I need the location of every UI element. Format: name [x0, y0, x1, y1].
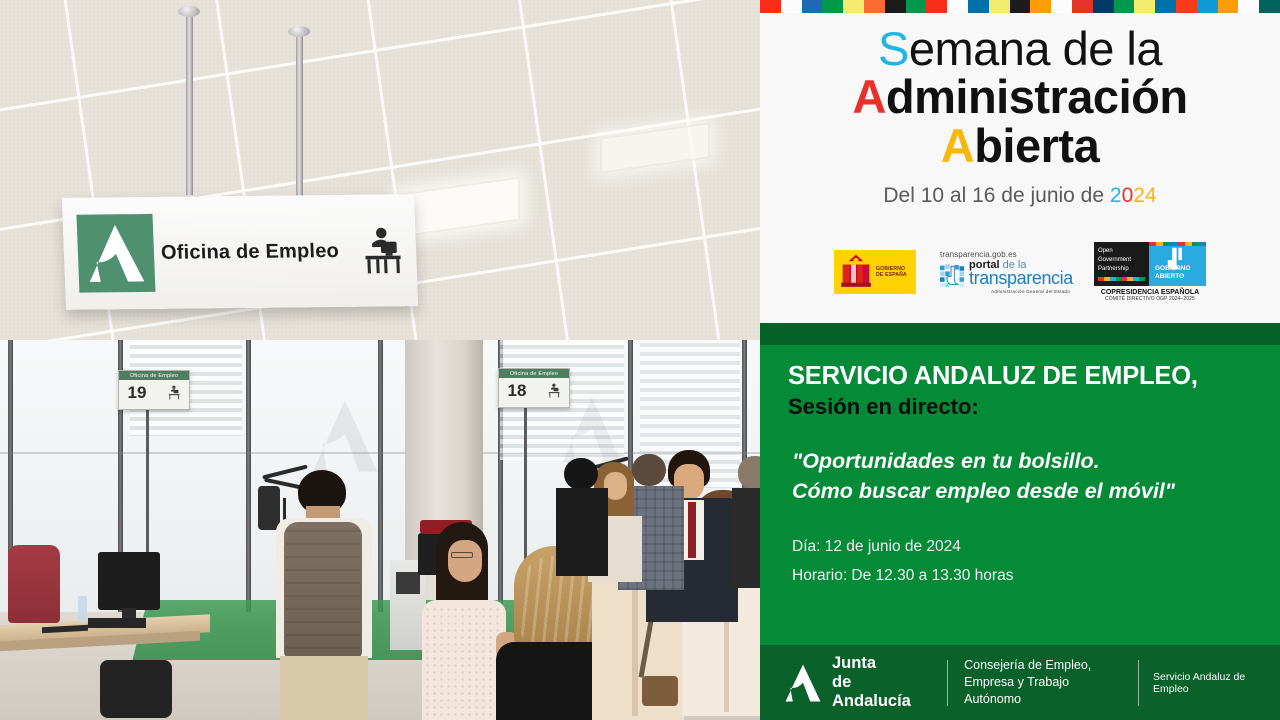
office-chair-black — [100, 660, 172, 718]
ogp-caption-2: COMITÉ DIRECTIVO OGP 2024–2025 — [1094, 296, 1206, 302]
gobierno-abierto-text: GOBIERNO ABIERTO — [1155, 265, 1190, 281]
gobierno-espana-text: GOBIERNO DE ESPAÑA — [876, 266, 907, 279]
counter-number: 18 — [508, 382, 527, 399]
footer-divider — [947, 660, 948, 706]
computer-tower — [88, 618, 146, 628]
office-chair-red — [8, 545, 60, 623]
year-digit-0: 0 — [1122, 184, 1134, 207]
ga-line2: ABIERTO — [1155, 273, 1190, 281]
saa-date: Del 10 al 16 de junio de 2024 — [760, 184, 1280, 208]
colorbar-segment-7 — [906, 0, 927, 13]
colorbar-segment-17 — [1114, 0, 1135, 13]
colorbar-segment-3 — [822, 0, 843, 13]
junta-andalucia-a-icon — [782, 663, 824, 703]
colorbar-segment-1 — [781, 0, 802, 13]
hanging-coat — [258, 486, 280, 530]
colorbar-segment-11 — [989, 0, 1010, 13]
ogp-caption-1: COPRESIDENCIA ESPAÑOLA — [1094, 289, 1206, 296]
session-info: SERVICIO ANDALUZ DE EMPLEO, Sesión en di… — [760, 345, 1280, 590]
colorbar-segment-5 — [864, 0, 885, 13]
junta-andalucia-wordmark: Junta de Andalucía — [832, 654, 931, 711]
colorbar-segment-4 — [843, 0, 864, 13]
person-at-desk-icon — [543, 382, 560, 399]
footer-divider-2 — [1138, 660, 1139, 706]
session-quote-line-1: "Oportunidades en tu bolsillo. — [792, 446, 1254, 477]
year-digit-4: 4 — [1145, 184, 1157, 207]
colorbar-segment-16 — [1093, 0, 1114, 13]
transparencia-wordmark: transparencia — [969, 270, 1073, 287]
colorbar-segment-23 — [1238, 0, 1259, 13]
colorbar-segment-14 — [1051, 0, 1072, 13]
colorbar-segment-2 — [802, 0, 823, 13]
person-at-desk-icon — [345, 222, 403, 279]
ogp-logo: Open Government Partnership — [1094, 242, 1206, 302]
colorbar-segment-24 — [1259, 0, 1280, 13]
colorbar-segment-12 — [1010, 0, 1031, 13]
colorbar-segment-9 — [947, 0, 968, 13]
logo-row: GOBIERNO DE ESPAÑA transparencia.gob.es — [760, 236, 1280, 308]
transparencia-logo: transparencia.gob.es — [940, 250, 1070, 293]
session-day: Día: 12 de junio de 2024 — [792, 533, 1254, 562]
info-panel: Semana de la Administración Abierta Del … — [760, 0, 1280, 720]
ga-line1: GOBIERNO — [1155, 265, 1190, 273]
gobierno-abierto-block: GOBIERNO ABIERTO — [1149, 242, 1206, 286]
session-schedule: Horario: De 12.30 a 13.30 horas — [792, 562, 1254, 591]
session-subtitle: Sesión en directo: — [788, 394, 1254, 420]
colorbar-segment-8 — [926, 0, 947, 13]
saa-date-prefix: Del 10 al 16 de junio de — [883, 184, 1110, 207]
oficina-de-empleo-sign: Oficina de Empleo — [62, 194, 418, 310]
sign-rod-cap — [288, 26, 310, 37]
andalucia-a-icon — [76, 214, 155, 293]
kiosk-screen — [396, 572, 420, 594]
year-digit-2b: 2 — [1133, 184, 1145, 207]
counter-plate: Oficina de Empleo 19 — [118, 370, 190, 410]
escudo-espana-icon — [839, 253, 873, 291]
brand-line-1: Junta — [832, 654, 931, 673]
gobierno-line2: DE ESPAÑA — [876, 272, 907, 279]
green-top-strip — [760, 323, 1280, 345]
person-at-desk-icon — [163, 384, 180, 401]
ogp-line2: Government — [1098, 256, 1145, 265]
ogp-line3: Partnership — [1098, 265, 1145, 274]
counter-plate-header: Oficina de Empleo — [119, 371, 189, 380]
counter-plate-header: Oficina de Empleo — [499, 369, 569, 378]
saa-rest-1: emana de la — [909, 22, 1162, 75]
colorbar-segment-10 — [968, 0, 989, 13]
ogp-line1: Open — [1098, 247, 1145, 256]
consejeria-line-2: Empresa y Trabajo Autónomo — [964, 674, 1124, 708]
session-meta: Día: 12 de junio de 2024 Horario: De 12.… — [788, 533, 1254, 590]
brand-line-2: de Andalucía — [832, 673, 931, 711]
office-photo: Oficina de Empleo Oficina de Empleo — [0, 0, 760, 720]
colorbar-segment-6 — [885, 0, 906, 13]
saa-accent-a1: A — [852, 70, 885, 123]
session-title: SERVICIO ANDALUZ DE EMPLEO, — [788, 362, 1254, 391]
colorbar-segment-20 — [1176, 0, 1197, 13]
sign-label: Oficina de Empleo — [154, 239, 347, 264]
saa-line-3: Abierta — [760, 122, 1280, 170]
decorative-colorbar — [760, 0, 1280, 13]
saa-accent-a2: A — [941, 119, 974, 172]
saa-rest-2: dministración — [886, 70, 1188, 123]
session-quote: "Oportunidades en tu bolsillo. Cómo busc… — [788, 446, 1254, 507]
session-quote-line-2: Cómo buscar empleo desde el móvil" — [792, 476, 1254, 507]
counter-plate: Oficina de Empleo 18 — [498, 368, 570, 408]
colorbar-segment-19 — [1155, 0, 1176, 13]
colorbar-segment-18 — [1134, 0, 1155, 13]
ogp-black-block: Open Government Partnership — [1094, 242, 1149, 286]
consejeria-line-1: Consejería de Empleo, — [964, 657, 1124, 674]
sign-support-rod — [296, 30, 303, 205]
plate-pole — [524, 398, 527, 578]
colorbar-segment-15 — [1072, 0, 1093, 13]
saa-line-1: Semana de la — [760, 25, 1280, 73]
saa-rest-3: bierta — [974, 119, 1099, 172]
saa-line-2: Administración — [760, 73, 1280, 121]
transparencia-sub: Administración General del Estado — [940, 289, 1070, 294]
footer-bar: Junta de Andalucía Consejería de Empleo,… — [760, 645, 1280, 720]
servicio-label: Servicio Andaluz de Empleo — [1153, 671, 1280, 695]
andalucia-a-watermark-icon — [310, 396, 380, 476]
colorbar-segment-21 — [1197, 0, 1218, 13]
poster-stage: Oficina de Empleo Oficina de Empleo — [0, 0, 1280, 720]
year-digit-2: 2 — [1110, 184, 1122, 207]
transparencia-mark-icon — [940, 264, 966, 288]
colorbar-segment-13 — [1030, 0, 1051, 13]
consejeria-label: Consejería de Empleo, Empresa y Trabajo … — [964, 657, 1124, 708]
monitor — [98, 552, 160, 610]
transparencia-url: transparencia.gob.es — [940, 250, 1070, 259]
water-bottle — [78, 596, 87, 622]
colorbar-segment-22 — [1218, 0, 1239, 13]
gobierno-de-espana-logo: GOBIERNO DE ESPAÑA — [834, 250, 916, 294]
saa-accent-s: S — [878, 22, 909, 75]
counter-number: 19 — [128, 384, 147, 401]
sign-support-rod — [186, 10, 193, 195]
colorbar-segment-0 — [760, 0, 781, 13]
sign-rod-cap — [178, 6, 200, 17]
ogp-stripes — [1098, 277, 1145, 281]
